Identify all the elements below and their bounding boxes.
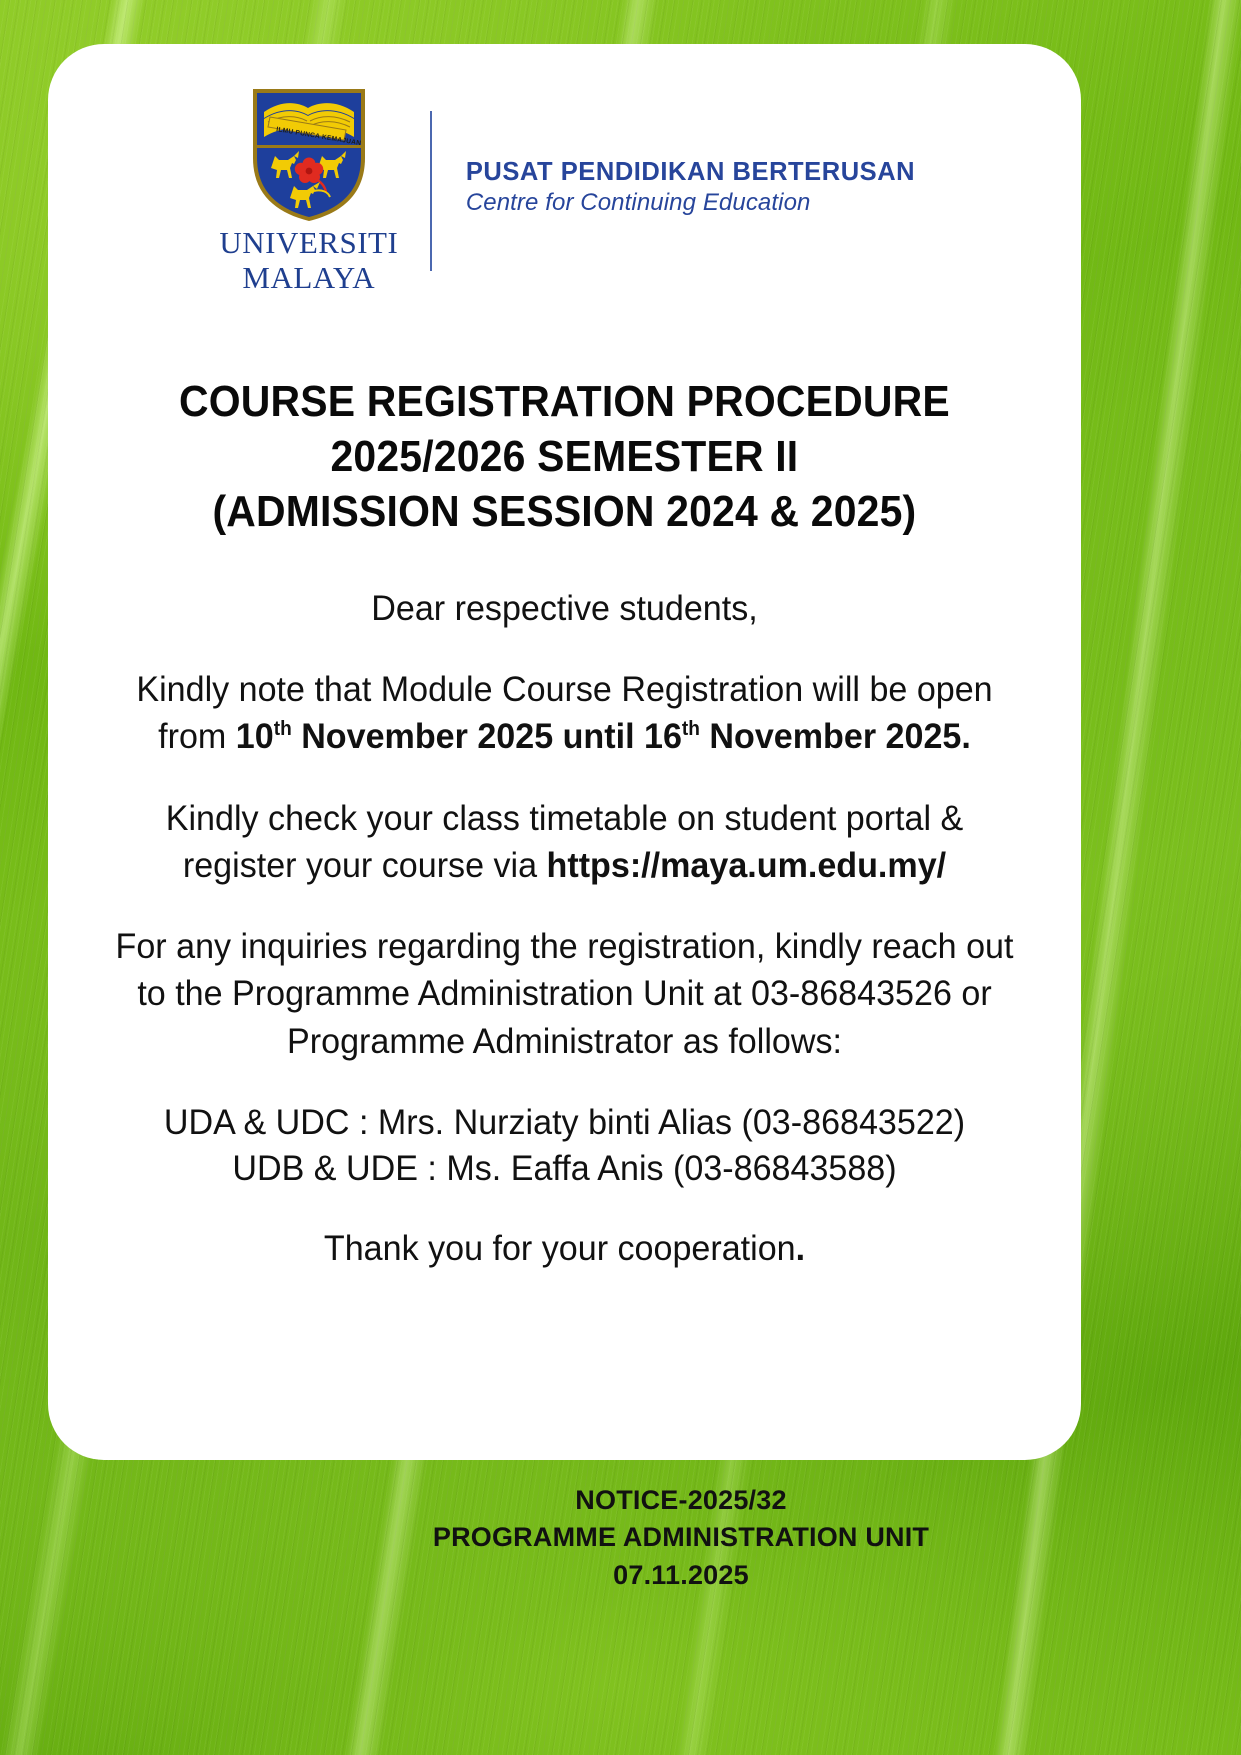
registration-dates: 10th November 2025 until 16th November 2… [236, 716, 971, 756]
universiti-malaya-logo: ILMU PUNCA KEMAJUAN [214, 86, 404, 295]
thanks-period: . [796, 1228, 805, 1268]
contact-line-udb-ude: UDB & UDE : Ms. Eaffa Anis (03-86843588) [232, 1148, 896, 1188]
notice-body: Dear respective students, Kindly note th… [113, 585, 1016, 1272]
issuing-unit: PROGRAMME ADMINISTRATION UNIT [161, 1519, 1201, 1556]
um-wordmark: UNIVERSITI MALAYA [219, 226, 398, 295]
start-rest: November 2025 until [292, 716, 644, 756]
registration-period-paragraph: Kindly note that Module Course Registrat… [113, 666, 1016, 760]
centre-name-english: Centre for Continuing Education [466, 189, 915, 217]
notice-reference: NOTICE-2025/32 [161, 1482, 1201, 1519]
thanks-paragraph: Thank you for your cooperation. [113, 1225, 1016, 1272]
end-day-suffix: th [682, 719, 700, 741]
end-rest: November 2025. [700, 716, 971, 756]
start-day-suffix: th [274, 719, 292, 741]
centre-name-malay: PUSAT PENDIDIKAN BERTERUSAN [466, 158, 915, 187]
header-divider [430, 111, 432, 271]
start-day: 10 [236, 716, 274, 756]
notice-date: 07.11.2025 [161, 1557, 1201, 1594]
maya-portal-link[interactable]: https://maya.um.edu.my/ [547, 845, 947, 885]
inquiries-paragraph: For any inquiries regarding the registra… [113, 923, 1016, 1065]
header-logo-lockup: ILMU PUNCA KEMAJUAN [214, 86, 915, 295]
universiti-malaya-crest-icon: ILMU PUNCA KEMAJUAN [250, 86, 368, 224]
title-line-3: (ADMISSION SESSION 2024 & 2025) [179, 485, 950, 540]
greeting-text: Dear respective students, [113, 585, 1016, 632]
notice-footer: NOTICE-2025/32 PROGRAMME ADMINISTRATION … [161, 1482, 1201, 1594]
contact-line-uda-udc: UDA & UDC : Mrs. Nurziaty binti Alias (0… [164, 1102, 965, 1142]
title-line-2: 2025/2026 SEMESTER II [179, 430, 950, 485]
thanks-text: Thank you for your cooperation [324, 1228, 796, 1268]
um-wordmark-line1: UNIVERSITI [219, 226, 398, 261]
notice-card: ILMU PUNCA KEMAJUAN [48, 44, 1081, 1460]
portal-paragraph: Kindly check your class timetable on stu… [113, 795, 1016, 889]
contacts-paragraph: UDA & UDC : Mrs. Nurziaty binti Alias (0… [113, 1099, 1016, 1191]
um-wordmark-line2: MALAYA [219, 261, 398, 296]
title-line-1: COURSE REGISTRATION PROCEDURE [179, 375, 950, 430]
end-day: 16 [644, 716, 682, 756]
centre-name-block: PUSAT PENDIDIKAN BERTERUSAN Centre for C… [466, 158, 915, 223]
page-title: COURSE REGISTRATION PROCEDURE 2025/2026 … [179, 375, 950, 539]
